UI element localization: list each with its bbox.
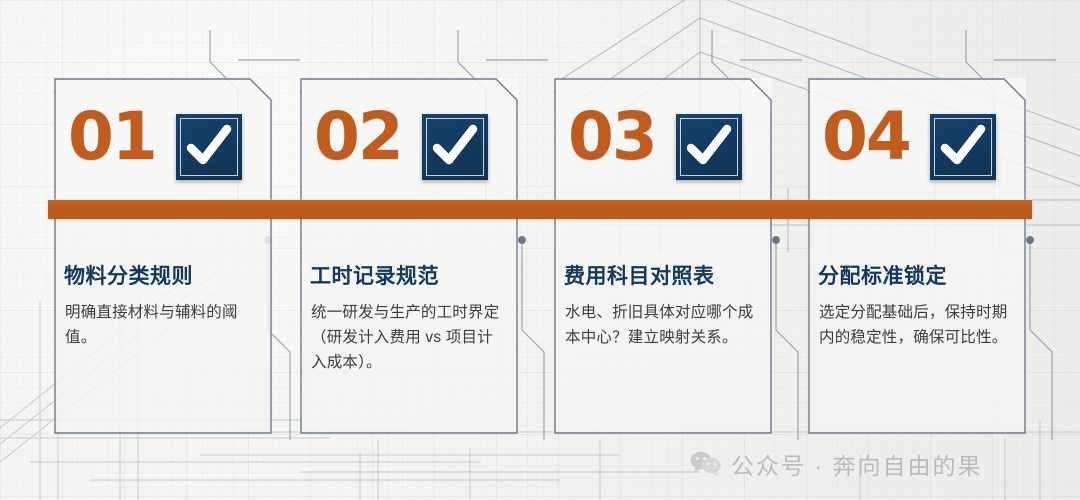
checkmark-icon — [422, 114, 488, 180]
card-description: 明确直接材料与辅料的阈值。 — [65, 300, 261, 350]
info-card-1[interactable]: 01 物料分类规则 明确直接材料与辅料的阈值。 — [54, 78, 272, 434]
card-number: 02 — [314, 104, 402, 170]
card-number: 04 — [822, 104, 910, 170]
card-title: 工时记录规范 — [310, 260, 510, 290]
checkmark-icon — [930, 114, 996, 180]
card-description: 统一研发与生产的工时界定（研发计入费用 vs 项目计入成本）。 — [311, 300, 507, 375]
card-description: 选定分配基础后，保持时期内的稳定性，确保可比性。 — [819, 300, 1015, 350]
info-card-2[interactable]: 02 工时记录规范 统一研发与生产的工时界定（研发计入费用 vs 项目计入成本）… — [300, 78, 518, 434]
watermark: 公众号 · 奔向自由的果 — [690, 447, 982, 481]
wechat-logo-icon — [690, 451, 722, 477]
checkmark-icon — [176, 114, 242, 180]
card-title: 费用科目对照表 — [564, 260, 764, 290]
card-title: 分配标准锁定 — [818, 260, 1018, 290]
watermark-text: 公众号 · 奔向自由的果 — [731, 447, 982, 481]
info-card-4[interactable]: 04 分配标准锁定 选定分配基础后，保持时期内的稳定性，确保可比性。 — [808, 78, 1026, 434]
info-card-3[interactable]: 03 费用科目对照表 水电、折旧具体对应哪个成本中心？建立映射关系。 — [554, 78, 772, 434]
infographic-canvas: 01 物料分类规则 明确直接材料与辅料的阈值。 02 工时记录规范 统一研发与生… — [0, 0, 1080, 500]
card-number: 01 — [68, 104, 156, 170]
checkmark-icon — [676, 114, 742, 180]
card-description: 水电、折旧具体对应哪个成本中心？建立映射关系。 — [565, 300, 761, 350]
card-number: 03 — [568, 104, 656, 170]
card-title: 物料分类规则 — [64, 260, 264, 290]
orange-divider-bar — [48, 200, 1032, 219]
